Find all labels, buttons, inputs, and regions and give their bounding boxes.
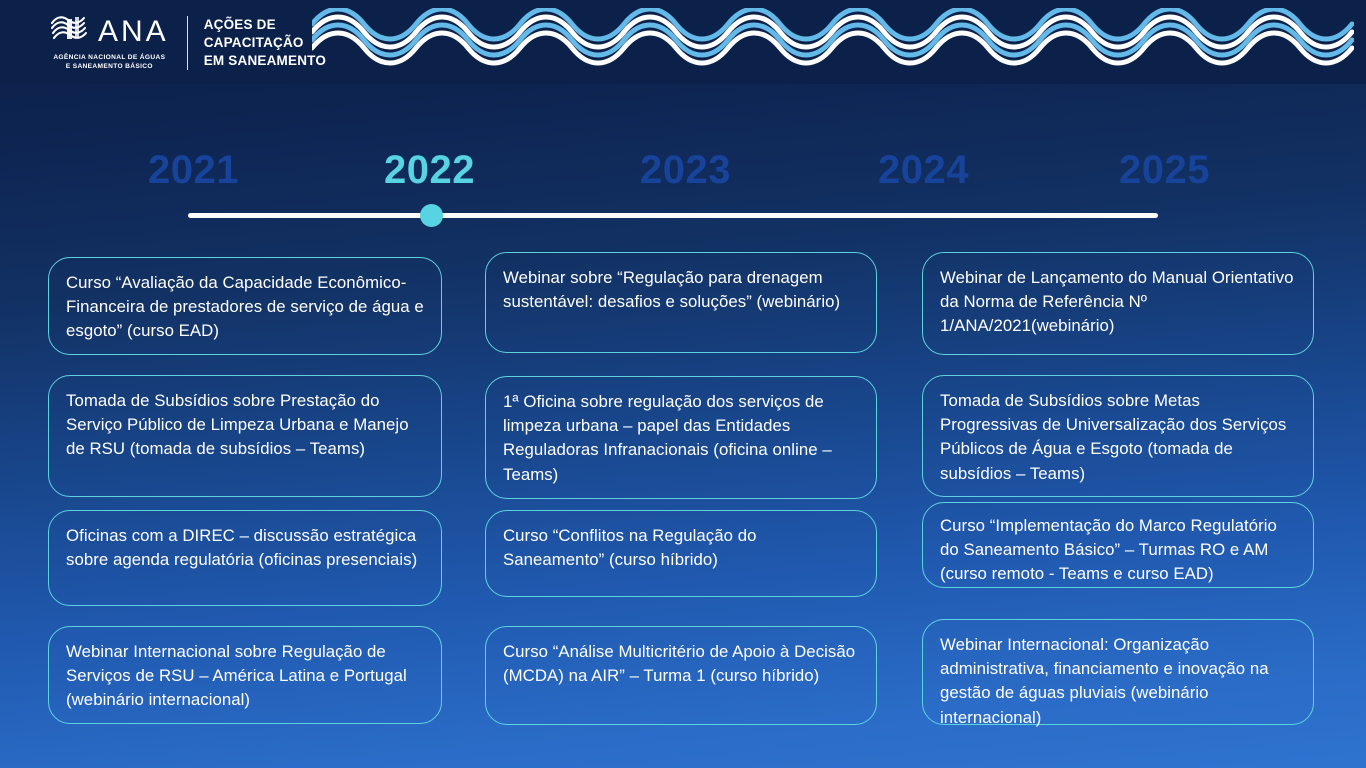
- header-bar: ANA AGÊNCIA NACIONAL DE ÁGUAS E SANEAMEN…: [0, 0, 1366, 84]
- activity-card-text: Curso “Avaliação da Capacidade Econômico…: [66, 271, 424, 344]
- ana-logo: ANA AGÊNCIA NACIONAL DE ÁGUAS E SANEAMEN…: [50, 14, 185, 71]
- activity-card-text: Webinar Internacional sobre Regulação de…: [66, 640, 424, 713]
- timeline-axis: [188, 213, 1158, 218]
- ana-wave-logo-icon: [50, 14, 92, 49]
- activity-card[interactable]: Curso “Conflitos na Regulação do Saneame…: [485, 510, 877, 597]
- ana-wordmark: ANA: [98, 17, 169, 47]
- activity-card[interactable]: Curso “Implementação do Marco Regulatóri…: [922, 502, 1314, 588]
- activity-card-text: Webinar de Lançamento do Manual Orientat…: [940, 266, 1296, 339]
- activity-card[interactable]: Tomada de Subsídios sobre Prestação do S…: [48, 375, 442, 497]
- presentation-slide: ANA AGÊNCIA NACIONAL DE ÁGUAS E SANEAMEN…: [0, 0, 1366, 768]
- activity-card[interactable]: Tomada de Subsídios sobre Metas Progress…: [922, 375, 1314, 497]
- activity-card-text: Curso “Implementação do Marco Regulatóri…: [940, 514, 1296, 587]
- activity-card-text: Webinar Internacional: Organização admin…: [940, 633, 1296, 730]
- activity-card-text: Curso “Conflitos na Regulação do Saneame…: [503, 524, 859, 572]
- activity-card[interactable]: Webinar de Lançamento do Manual Orientat…: [922, 252, 1314, 355]
- activity-card[interactable]: Webinar Internacional: Organização admin…: [922, 619, 1314, 725]
- wave-lines-graphic: [312, 8, 1354, 70]
- timeline-year-2025[interactable]: 2025: [1119, 150, 1210, 190]
- activity-card-text: Curso “Análise Multicritério de Apoio à …: [503, 640, 859, 688]
- activity-card-text: Oficinas com a DIREC – discussão estraté…: [66, 524, 424, 572]
- activity-card-text: Tomada de Subsídios sobre Prestação do S…: [66, 389, 424, 462]
- timeline-year-2022[interactable]: 2022: [384, 150, 475, 190]
- activity-card[interactable]: Curso “Avaliação da Capacidade Econômico…: [48, 257, 442, 355]
- activity-card[interactable]: Curso “Análise Multicritério de Apoio à …: [485, 626, 877, 725]
- brand-divider: [187, 16, 188, 70]
- activity-card[interactable]: Webinar Internacional sobre Regulação de…: [48, 626, 442, 724]
- activity-card-text: Webinar sobre “Regulação para drenagem s…: [503, 266, 859, 314]
- timeline-card-grid: Curso “Avaliação da Capacidade Econômico…: [0, 252, 1366, 752]
- brand-lockup: ANA AGÊNCIA NACIONAL DE ÁGUAS E SANEAMEN…: [50, 14, 326, 72]
- slide-title: AÇÕES DE CAPACITAÇÃO EM SANEAMENTO: [204, 16, 326, 70]
- activity-card-text: 1ª Oficina sobre regulação dos serviços …: [503, 390, 859, 487]
- timeline-years: 2021 2022 2023 2024 2025: [0, 150, 1366, 208]
- activity-card[interactable]: 1ª Oficina sobre regulação dos serviços …: [485, 376, 877, 499]
- timeline-year-2023[interactable]: 2023: [640, 150, 731, 190]
- timeline-year-2021[interactable]: 2021: [148, 150, 239, 190]
- timeline-current-marker[interactable]: [420, 204, 443, 227]
- activity-card[interactable]: Webinar sobre “Regulação para drenagem s…: [485, 252, 877, 353]
- timeline-year-2024[interactable]: 2024: [878, 150, 969, 190]
- activity-card[interactable]: Oficinas com a DIREC – discussão estraté…: [48, 510, 442, 606]
- ana-logo-subtitle: AGÊNCIA NACIONAL DE ÁGUAS E SANEAMENTO B…: [53, 54, 165, 71]
- activity-card-text: Tomada de Subsídios sobre Metas Progress…: [940, 389, 1296, 486]
- timeline: 2021 2022 2023 2024 2025: [0, 150, 1366, 236]
